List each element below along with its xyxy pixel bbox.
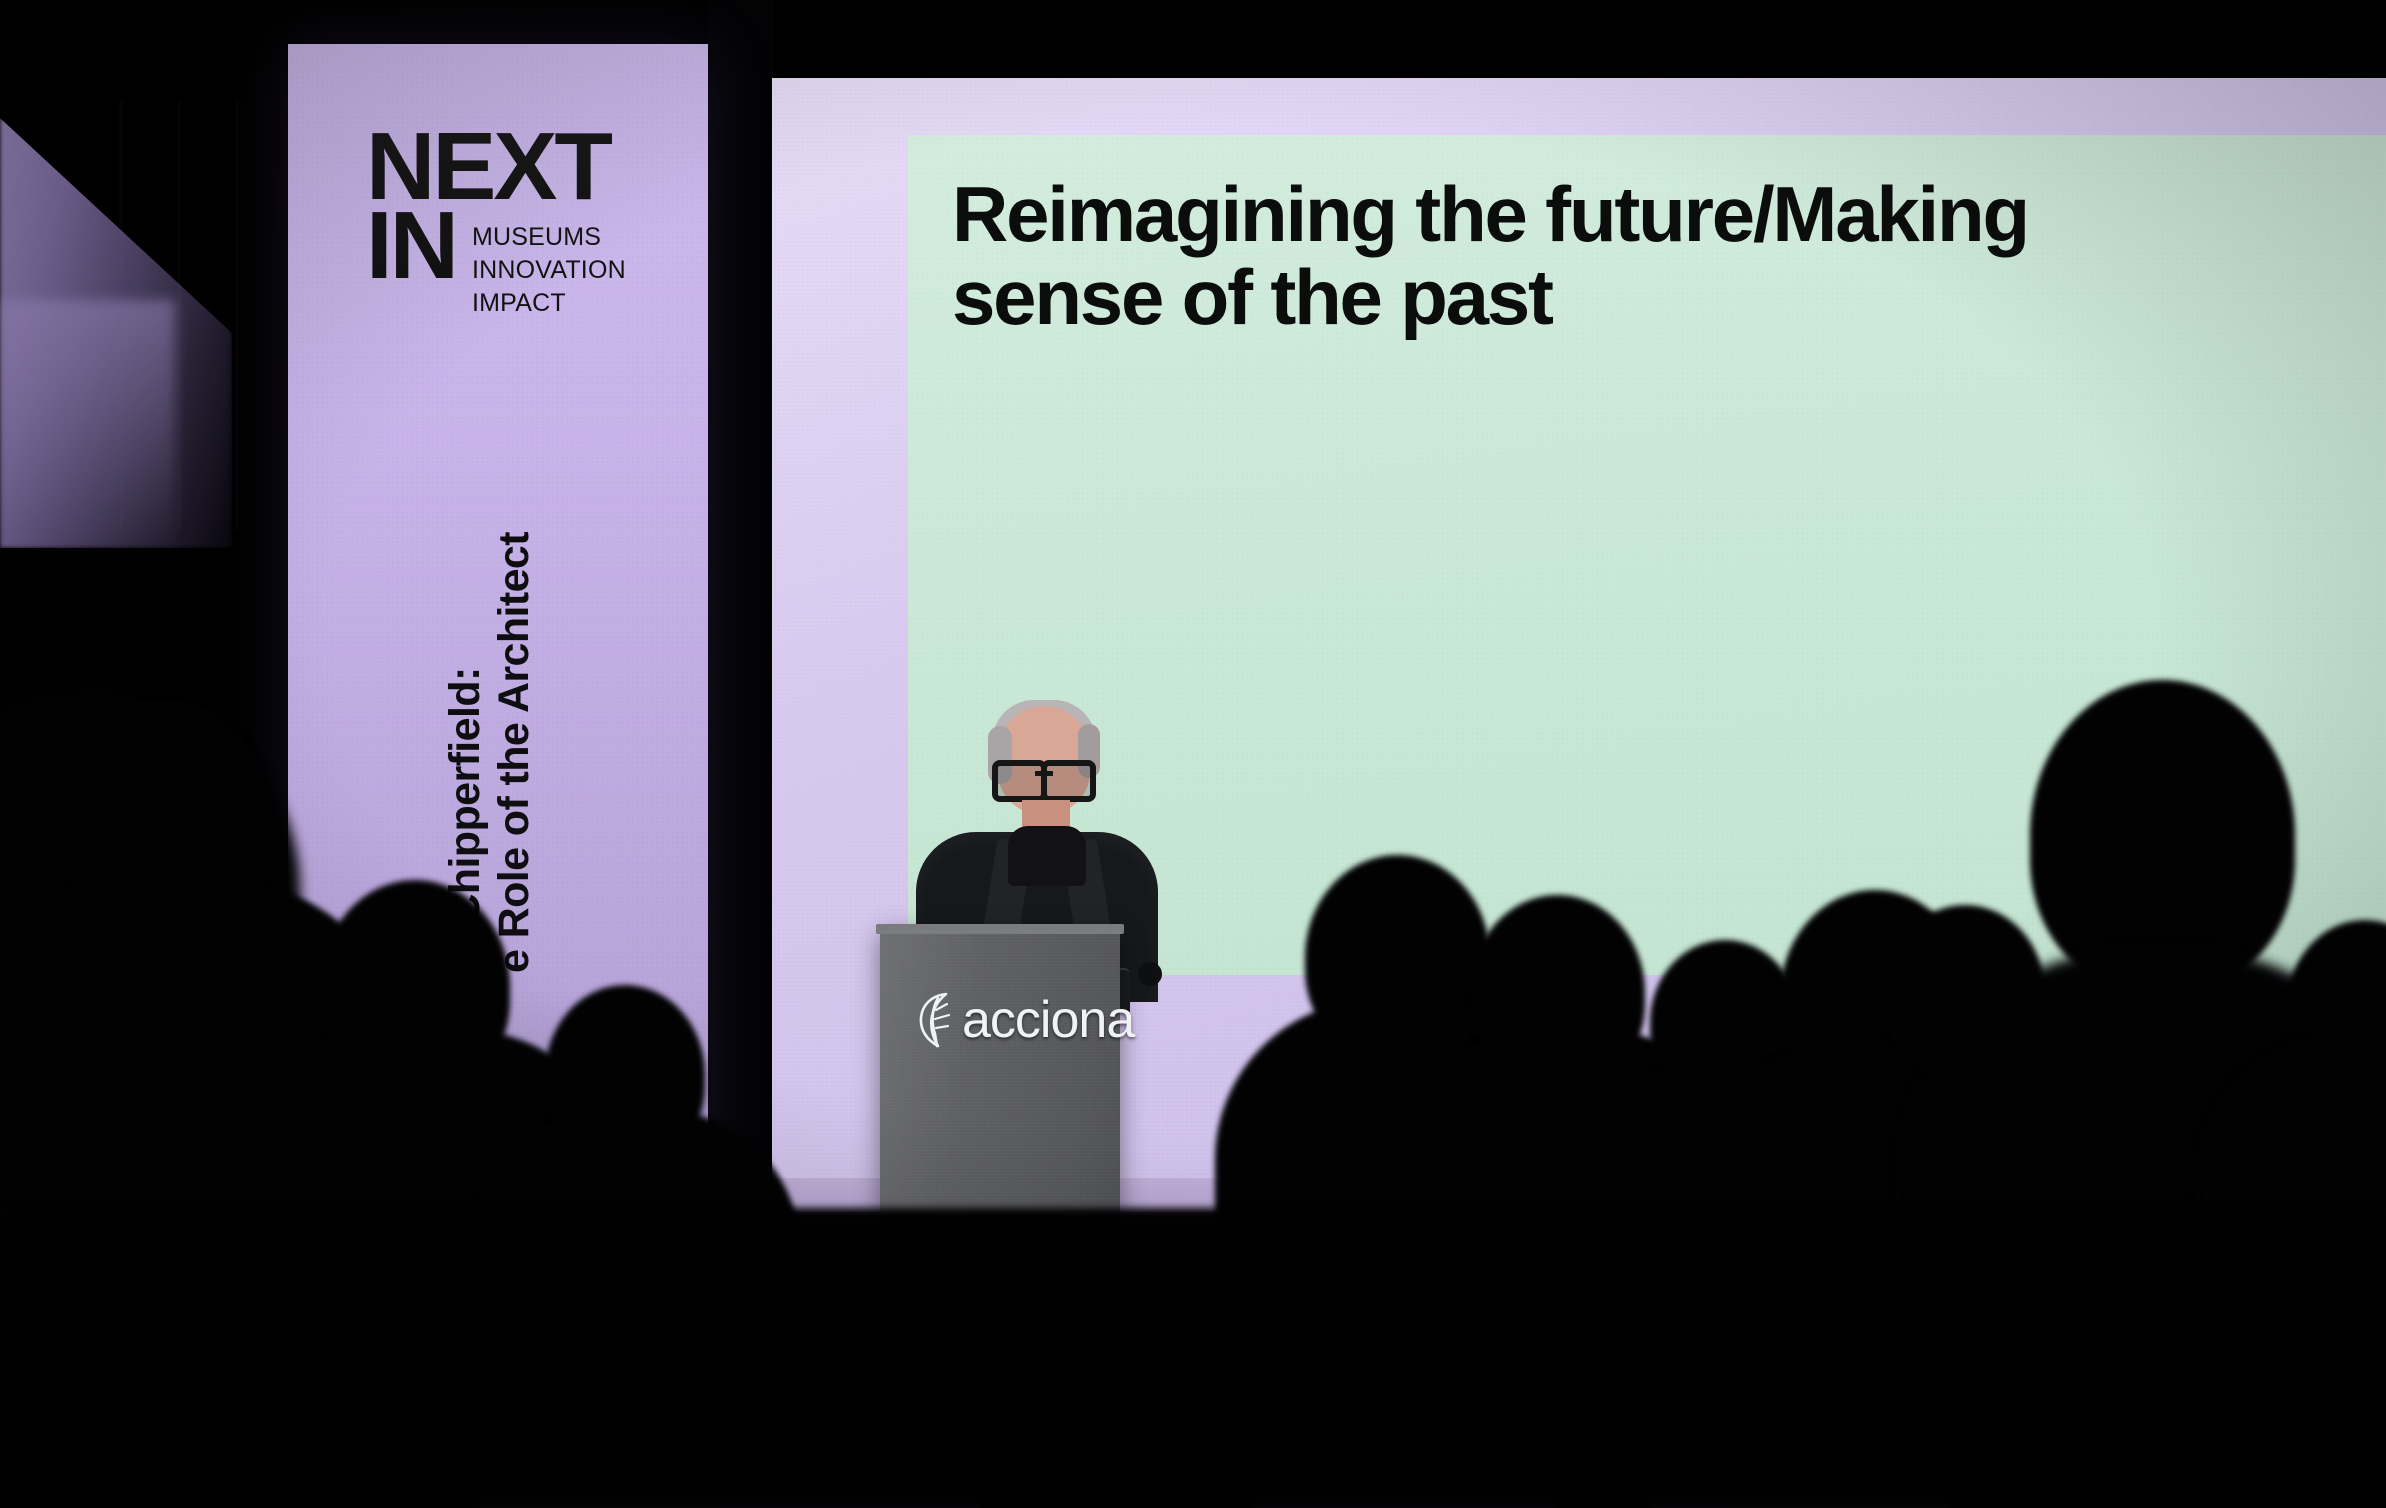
tagline-innovation: INNOVATION [472, 254, 626, 287]
tagline-impact: IMPACT [472, 287, 626, 320]
next-in-logo: NEXT IN MUSEUMS INNOVATION IMPACT [366, 126, 696, 320]
speaker-turtleneck [1008, 826, 1086, 886]
slide-title-line-2: sense of the past [952, 256, 2352, 339]
tagline-museums: MUSEUMS [472, 221, 626, 254]
lectern-top-edge [876, 924, 1124, 934]
speaker-glasses [992, 760, 1096, 790]
session-speaker-name: id Chipperfield: [441, 333, 490, 973]
audience-head-right-2 [1885, 905, 2045, 1080]
acciona-wordmark: acciona [962, 994, 1134, 1046]
logo-tagline: MUSEUMS INNOVATION IMPACT [472, 221, 626, 320]
slide-title-line-1: Reimagining the future/Making [952, 173, 2352, 256]
logo-line-in: IN [366, 205, 456, 288]
conference-photo: NEXT IN MUSEUMS INNOVATION IMPACT id Chi… [0, 0, 2386, 1508]
audience-foreground-band [0, 1208, 2386, 1508]
slide-title: Reimagining the future/Making sense of t… [952, 173, 2352, 338]
microphone-right-icon [1138, 962, 1162, 986]
acciona-leaf-icon [916, 992, 958, 1048]
acciona-logo: acciona [916, 992, 1134, 1048]
audience-head-right-large [2030, 680, 2295, 990]
session-title-vertical: id Chipperfield: e Role of the Architect [441, 333, 539, 973]
session-subtitle: e Role of the Architect [490, 333, 539, 973]
